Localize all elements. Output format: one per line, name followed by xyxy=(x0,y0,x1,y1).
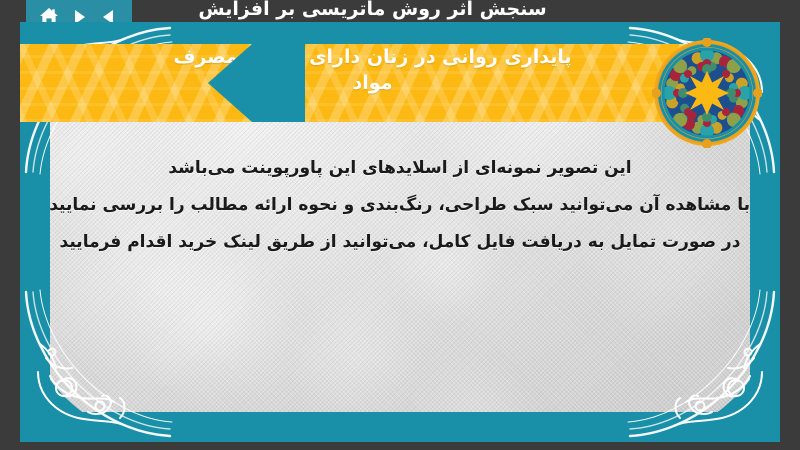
screenshot-root: سنجش اثر روش ماتریسی بر افزایش xyxy=(0,0,800,450)
slide-body-line-2: با مشاهده آن می‌توانید سبک طراحی، رنگ‌بن… xyxy=(50,187,750,224)
powerpoint-slide: سنجش اثر روش ماتریسی بر افزایش پایداری ر… xyxy=(20,22,780,442)
islamic-medallion-ornament xyxy=(652,38,762,148)
slide-body-line-1: این تصویر نمونه‌ای از اسلایدهای این پاور… xyxy=(50,150,750,187)
slide-body-line-3: در صورت تمایل به دریافت فایل کامل، می‌تو… xyxy=(50,224,750,261)
slide-title-line-3: مواد xyxy=(353,70,393,96)
slide-title: سنجش اثر روش ماتریسی بر افزایش پایداری ر… xyxy=(20,44,725,122)
slide-body-text: این تصویر نمونه‌ای از اسلایدهای این پاور… xyxy=(50,150,750,261)
slide-title-band: سنجش اثر روش ماتریسی بر افزایش پایداری ر… xyxy=(20,44,725,122)
title-band-arrow-tab xyxy=(200,44,305,122)
